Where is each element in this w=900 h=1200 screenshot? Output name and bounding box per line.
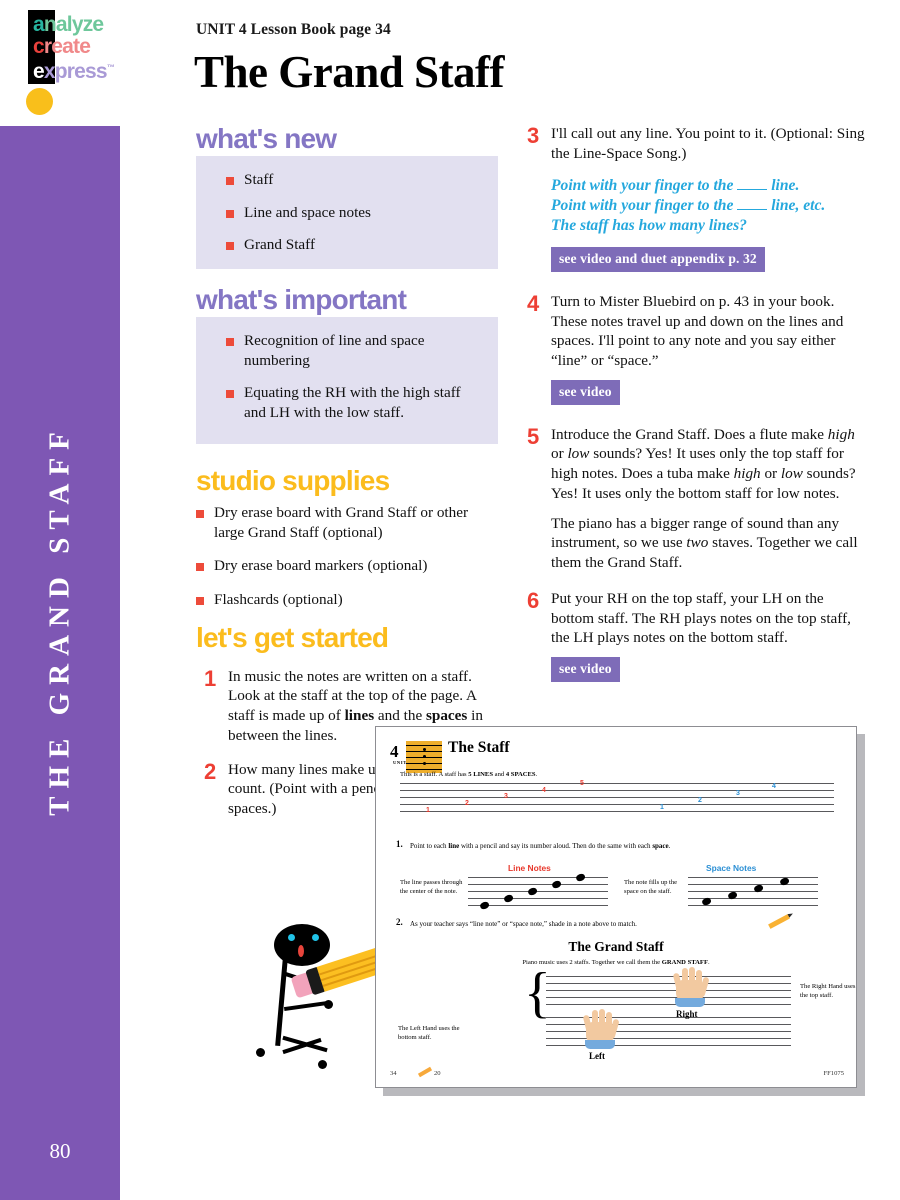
step-text: Put your RH on the top staff, your LH on…: [551, 589, 867, 648]
t: or: [551, 445, 567, 462]
figure-foot-back: [256, 1048, 265, 1057]
emphasis-high: high: [734, 465, 761, 482]
fill-blank-icon: [737, 209, 767, 210]
logo-letter-a: a: [33, 13, 44, 36]
ace-logo: analyze create express™: [28, 10, 140, 84]
preview-footer-page: 34: [390, 1070, 397, 1077]
note-head: [575, 873, 586, 882]
step-content: Turn to Mister Bluebird on p. 43 in your…: [551, 292, 867, 405]
step-content: Introduce the Grand Staff. Does a flute …: [551, 425, 867, 573]
logo-row-create: create: [33, 36, 114, 58]
square-bullet-icon: [226, 390, 234, 398]
space-number: 3: [736, 790, 740, 797]
logo-word-analyze: nalyze: [44, 13, 103, 36]
list-item-label: Flashcards (optional): [214, 590, 343, 609]
list-item-label: Staff: [244, 170, 273, 189]
emphasis-high: high: [828, 426, 855, 443]
right-hand-label: Right: [676, 1009, 698, 1019]
page-title: The Grand Staff: [194, 46, 504, 98]
list-item: Staff: [210, 170, 486, 189]
list-item-label: Dry erase board with Grand Staff or othe…: [214, 503, 492, 542]
script-prompt: Point with your finger to the line. Poin…: [551, 176, 867, 237]
logo-letter-c: c: [33, 35, 44, 58]
figure-eye-left: [288, 934, 295, 941]
note-head: [527, 887, 538, 896]
page-number: 80: [0, 1139, 120, 1164]
label-line-notes: Line Notes: [508, 863, 551, 873]
preview-question-2: As your teacher says “line note” or “spa…: [410, 920, 770, 928]
figure-hand-lower: [324, 1000, 333, 1009]
left-hand-label: Left: [589, 1051, 605, 1061]
step-5: 5 Introduce the Grand Staff. Does a flut…: [527, 425, 867, 573]
square-bullet-icon: [196, 563, 204, 571]
figure-eye-right: [312, 934, 319, 941]
list-item: Line and space notes: [210, 203, 486, 222]
step-number: 3: [527, 124, 551, 147]
script-line-2: Point with your finger to the: [551, 197, 733, 214]
figure-arm-lower: [284, 1001, 328, 1011]
unit-badge-word: UNIT: [393, 760, 407, 765]
figure-foot-front: [318, 1060, 327, 1069]
script-line-1-end: line.: [771, 177, 799, 194]
logo-word-create: reate: [44, 35, 90, 58]
emphasis-two: two: [686, 534, 708, 551]
step-3: 3 I'll call out any line. You point to i…: [527, 124, 867, 272]
sidebar-chapter-title: THE GRAND STAFF: [44, 424, 77, 816]
line-number: 3: [504, 793, 508, 800]
preview-staff-line-notes: [468, 877, 608, 905]
preview-heading-grand-staff: The Grand Staff: [376, 939, 856, 955]
preview-question-number: 2.: [396, 917, 403, 927]
whats-new-box: Staff Line and space notes Grand Staff: [196, 156, 498, 268]
t: 4 SPACES: [506, 771, 536, 778]
step-number: 1: [204, 667, 228, 690]
see-video-badge[interactable]: see video: [551, 657, 620, 682]
list-item: Recognition of line and space numbering: [210, 331, 486, 370]
preview-intro-text: This is a staff. A staff has 5 LINES and…: [400, 771, 537, 780]
step-number: 5: [527, 425, 551, 448]
t: with a pencil and say its number aloud. …: [459, 842, 652, 850]
t: .: [536, 771, 538, 778]
studio-supplies-list: Dry erase board with Grand Staff or othe…: [196, 503, 498, 609]
t: space: [652, 842, 668, 850]
logo-row-express: express™: [33, 57, 114, 83]
heading-lets-get-started: let's get started: [196, 623, 498, 652]
list-item-label: Recognition of line and space numbering: [244, 331, 449, 370]
step-content: I'll call out any line. You point to it.…: [551, 124, 867, 272]
list-item-label: Line and space notes: [244, 203, 371, 222]
t: or: [761, 465, 781, 482]
script-line-1: Point with your finger to the: [551, 177, 733, 194]
preview-question-number: 1.: [396, 839, 403, 849]
step-number: 6: [527, 589, 551, 612]
line-number: 1: [426, 807, 430, 814]
chapter-sidebar: THE GRAND STAFF 80: [0, 126, 120, 1200]
preview-question-1: Point to each line with a pencil and say…: [410, 842, 830, 850]
step-text: I'll call out any line. You point to it.…: [551, 124, 867, 164]
preview-staff-space-notes: [688, 877, 818, 905]
line-number: 2: [465, 800, 469, 807]
note-head: [503, 894, 514, 903]
list-item-label: Dry erase board markers (optional): [214, 556, 427, 575]
t: and: [493, 771, 506, 778]
preview-grand-intro: Piano music uses 2 staffs. Together we c…: [376, 959, 856, 968]
note-head: [551, 880, 562, 889]
logo-letter-e: e: [33, 60, 44, 83]
gold-dot-decoration: [26, 88, 53, 115]
whats-important-box: Recognition of line and space numbering …: [196, 317, 498, 444]
space-number: 1: [660, 804, 664, 811]
heading-whats-important: what's important: [196, 285, 498, 314]
logo-row-analyze: analyze: [33, 14, 114, 36]
list-item-label: Grand Staff: [244, 235, 315, 254]
unit-badge: 4 UNIT: [390, 741, 442, 773]
preview-heading-the-staff: The Staff: [448, 739, 510, 757]
square-bullet-icon: [226, 338, 234, 346]
left-hand-icon: [582, 1009, 618, 1049]
caption-space-notes: The note fills up the space on the staff…: [624, 879, 684, 897]
space-number: 2: [698, 797, 702, 804]
t: .: [669, 842, 671, 850]
step-bold-spaces: spaces: [426, 707, 467, 724]
square-bullet-icon: [196, 510, 204, 518]
right-hand-caption: The Right Hand uses the top staff.: [800, 983, 857, 1001]
unit-badge-number: 4: [390, 742, 399, 762]
unit-reference-line: UNIT 4 Lesson Book page 34: [196, 21, 391, 39]
fill-blank-icon: [737, 189, 767, 190]
space-number: 4: [772, 783, 776, 790]
t: Introduce the Grand Staff. Does a flute …: [551, 426, 828, 443]
square-bullet-icon: [226, 177, 234, 185]
list-item-label: Equating the RH with the high staff and …: [244, 383, 479, 422]
step-paragraph-2: The piano has a bigger range of sound th…: [551, 514, 867, 573]
step-number: 4: [527, 292, 551, 315]
figure-mouth: [298, 945, 304, 957]
logo-wordmark: analyze create express™: [33, 14, 114, 83]
right-hand-icon: [672, 967, 708, 1007]
preview-staff-top: [546, 976, 791, 1004]
t: Point to each: [410, 842, 448, 850]
step-bold-lines: lines: [345, 707, 375, 724]
t: GRAND STAFF: [662, 959, 708, 966]
heading-whats-new: what's new: [196, 124, 498, 153]
step-number: 2: [204, 760, 228, 783]
see-video-badge[interactable]: see video and duet appendix p. 32: [551, 247, 765, 272]
list-item: Dry erase board with Grand Staff or othe…: [196, 503, 498, 542]
unit-badge-staff-icon: [406, 741, 442, 773]
emphasis-low: low: [781, 465, 803, 482]
list-item: Equating the RH with the high staff and …: [210, 383, 486, 422]
lesson-book-preview[interactable]: 4 UNIT The Staff This is a staff. A staf…: [375, 726, 865, 1096]
step-4: 4 Turn to Mister Bluebird on p. 43 in yo…: [527, 292, 867, 405]
preview-footer-number: 20: [434, 1070, 441, 1077]
t: line: [448, 842, 459, 850]
left-hand-caption: The Left Hand uses the bottom staff.: [398, 1025, 460, 1043]
pencil-icon: [418, 1067, 432, 1077]
preview-staff-numbered: 1 2 3 4 5 1 2 3 4: [400, 783, 834, 813]
script-line-2-end: line, etc.: [771, 197, 825, 214]
caption-line-notes: The line passes through the center of th…: [400, 879, 466, 897]
line-number: 4: [542, 787, 546, 794]
left-column: what's new Staff Line and space notes Gr…: [196, 124, 498, 819]
preview-footer-code: FF1075: [823, 1070, 844, 1077]
script-line-3: The staff has how many lines?: [551, 217, 747, 234]
step-paragraph-1: Introduce the Grand Staff. Does a flute …: [551, 425, 867, 504]
list-item: Dry erase board markers (optional): [196, 556, 498, 575]
t: This is a staff. A staff has: [400, 771, 468, 778]
see-video-badge[interactable]: see video: [551, 380, 620, 405]
emphasis-low: low: [567, 445, 589, 462]
logo-trademark: ™: [107, 63, 114, 72]
label-space-notes: Space Notes: [706, 863, 756, 873]
right-column: 3 I'll call out any line. You point to i…: [527, 124, 867, 682]
pencil-icon: [768, 914, 790, 929]
t: 5 LINES: [468, 771, 493, 778]
logo-word-express: xpress: [44, 60, 107, 83]
line-number: 5: [580, 780, 584, 787]
heading-studio-supplies: studio supplies: [196, 466, 498, 495]
step-text: Turn to Mister Bluebird on p. 43 in your…: [551, 292, 867, 371]
note-head: [479, 901, 490, 910]
list-item: Grand Staff: [210, 235, 486, 254]
square-bullet-icon: [196, 597, 204, 605]
step-text-part: and the: [374, 707, 426, 724]
square-bullet-icon: [226, 242, 234, 250]
preview-page: 4 UNIT The Staff This is a staff. A staf…: [375, 726, 857, 1088]
list-item: Flashcards (optional): [196, 590, 498, 609]
step-content: Put your RH on the top staff, your LH on…: [551, 589, 867, 682]
t: .: [708, 959, 710, 966]
square-bullet-icon: [226, 210, 234, 218]
step-6: 6 Put your RH on the top staff, your LH …: [527, 589, 867, 682]
